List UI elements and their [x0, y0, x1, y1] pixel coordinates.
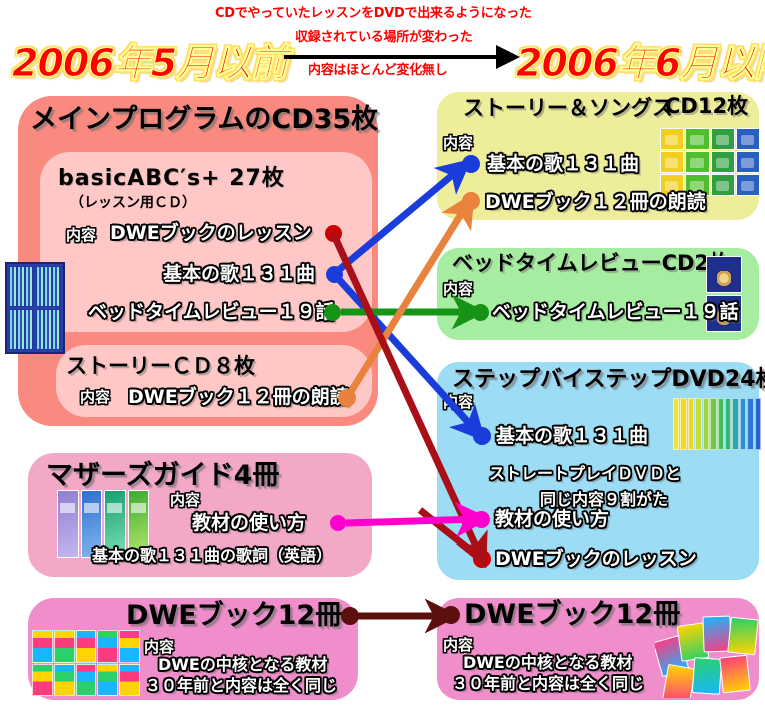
arrow-dwe-lesson-to-step-by-step [333, 233, 481, 557]
arrow-basic-songs-to-story-songs [334, 167, 462, 274]
diagram-canvas: CDでやっていたレッスンをDVDで出来るようになった 収録されている場所が変わっ… [0, 0, 765, 708]
arrow-how-to-use-to-step-by-step [346, 519, 478, 523]
connection-arrows [0, 0, 765, 708]
